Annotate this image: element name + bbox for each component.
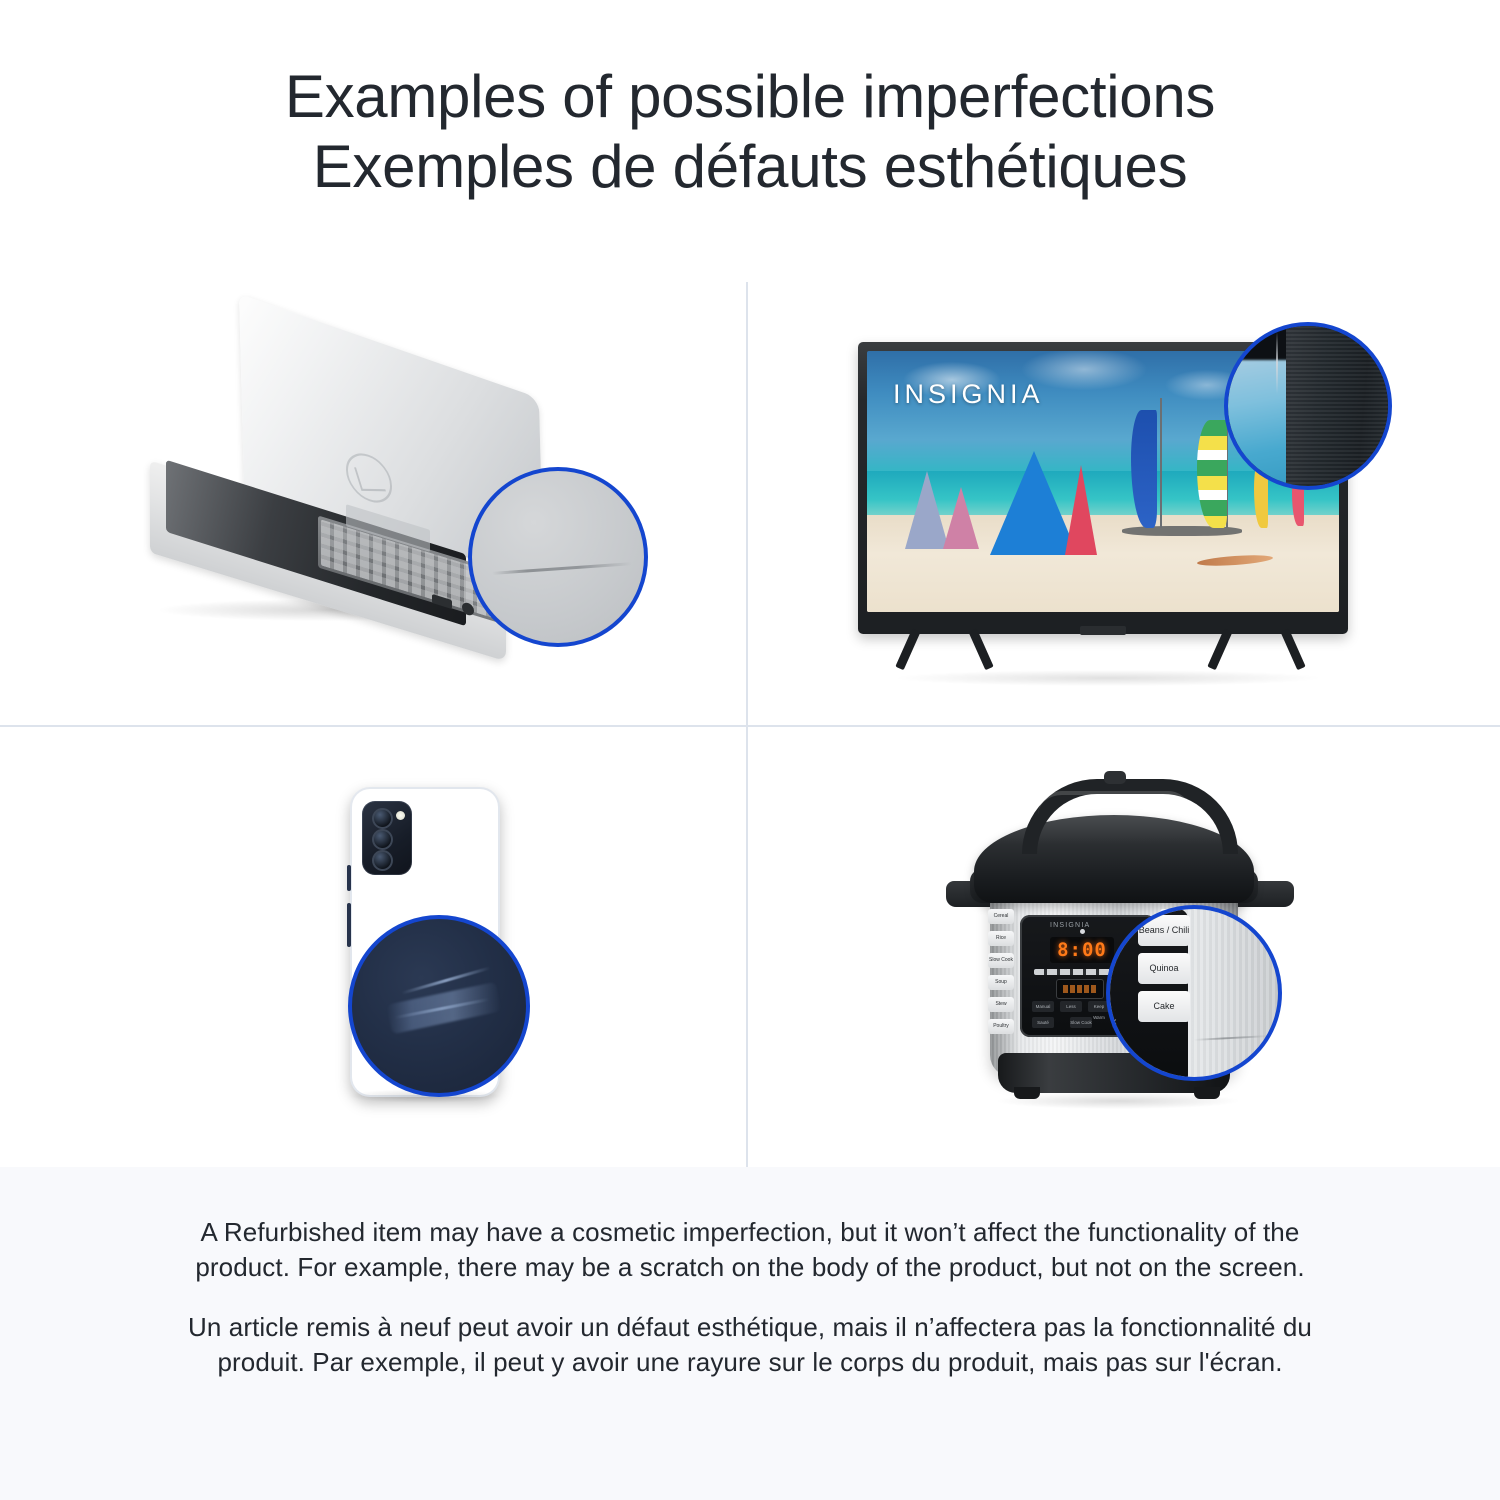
page-title-en: Examples of possible imperfections: [285, 62, 1215, 132]
magnifier-content: [1224, 322, 1392, 490]
camera-module: [362, 801, 412, 875]
magnified-button-quinoa[interactable]: Quinoa: [1138, 953, 1190, 984]
tv-shadow: [898, 670, 1318, 686]
magnifier-circle-phone: [348, 915, 530, 1097]
cooker-key-manual[interactable]: Manual: [1032, 1001, 1054, 1012]
pressure-valve-icon: [1104, 771, 1126, 784]
cooker-brand-logo: INSIGNIA: [1050, 922, 1090, 929]
header: Examples of possible imperfections Exemp…: [0, 0, 1500, 282]
magnified-key-column: Beans / Chili Quinoa Cake: [1138, 915, 1190, 1029]
footer-description: A Refurbished item may have a cosmetic i…: [0, 1167, 1500, 1500]
cooker-left-button-column: Cereal Rice Slow Cook Soup Stew Poultry: [988, 909, 1014, 1043]
examples-grid: INSIGNIA: [0, 282, 1500, 1167]
bezel-texture: [1286, 322, 1392, 490]
tv-brand-logo: INSIGNIA: [893, 379, 1044, 410]
cooker-foot: [1194, 1087, 1220, 1099]
example-cell-pressure-cooker: INSIGNIA 8:00 Manual Less Keep Warm Dela…: [748, 727, 1500, 1167]
footer-paragraph-fr: Un article remis à neuf peut avoir un dé…: [180, 1310, 1320, 1381]
tv-bottom-badge: [1080, 626, 1126, 635]
magnified-button-beanschili[interactable]: Beans / Chili: [1138, 915, 1190, 946]
cooker-button-cereal[interactable]: Cereal: [988, 909, 1014, 924]
mast: [1160, 398, 1162, 528]
cooker-button-soup[interactable]: Soup: [988, 975, 1014, 990]
camera-lens-icon: [372, 829, 393, 850]
cooker-foot: [1014, 1087, 1040, 1099]
magnifier-circle-laptop: [468, 467, 648, 647]
cooker-button-rice[interactable]: Rice: [988, 931, 1014, 946]
example-cell-tv: INSIGNIA: [748, 282, 1500, 727]
status-indicator-icon: [1080, 929, 1085, 934]
phone-side-button: [347, 903, 351, 947]
cooker-key-less[interactable]: Less: [1060, 1001, 1082, 1012]
laptop-illustration: [150, 347, 620, 657]
scratch-mark: [1276, 332, 1278, 394]
phone-side-button: [347, 865, 351, 891]
refurbished-imperfections-infographic: Examples of possible imperfections Exemp…: [0, 0, 1500, 1500]
footer-paragraph-en: A Refurbished item may have a cosmetic i…: [180, 1215, 1320, 1286]
cooker-button-stew[interactable]: Stew: [988, 997, 1014, 1012]
cooker-key-slowcook[interactable]: Slow Cook: [1070, 1017, 1092, 1028]
stand-leg: [968, 628, 993, 670]
stand-leg: [1207, 628, 1232, 670]
cooker-display-value: 8:00: [1057, 939, 1107, 961]
magnifier-circle-tv: [1224, 322, 1392, 490]
tv-illustration: INSIGNIA: [858, 322, 1378, 682]
cooker-button-poultry[interactable]: Poultry: [988, 1019, 1014, 1034]
example-cell-laptop: [0, 282, 748, 727]
cooker-display: 8:00: [1050, 937, 1114, 963]
phone-illustration: [290, 777, 540, 1127]
example-cell-phone: [0, 727, 748, 1167]
tv-stand-left: [906, 630, 988, 672]
magnified-bezel: [1286, 322, 1392, 490]
scratch-mark: [492, 562, 632, 575]
sail: [943, 487, 979, 549]
camera-lens-icon: [372, 808, 393, 829]
handle-highlight: [1038, 791, 1192, 815]
cooker-key-saute[interactable]: Sauté: [1032, 1017, 1054, 1028]
tv-stand-right: [1218, 630, 1300, 672]
pressure-cooker-illustration: INSIGNIA 8:00 Manual Less Keep Warm Dela…: [948, 757, 1308, 1127]
camera-lens-icon: [372, 850, 393, 871]
cooker-sub-display: [1056, 979, 1104, 999]
camera-flash-icon: [396, 811, 405, 820]
sail: [1065, 465, 1097, 555]
magnifier-circle-cooker: Delay Slow Cook Beans / Chili Quinoa Cak…: [1106, 905, 1282, 1081]
page-title-fr: Exemples de défauts esthétiques: [313, 132, 1188, 202]
stand-leg: [895, 628, 920, 670]
magnified-button-cake[interactable]: Cake: [1138, 991, 1190, 1022]
stand-leg: [1280, 628, 1305, 670]
sail: [1197, 420, 1227, 528]
cooker-button-slowcook[interactable]: Slow Cook: [988, 953, 1014, 968]
